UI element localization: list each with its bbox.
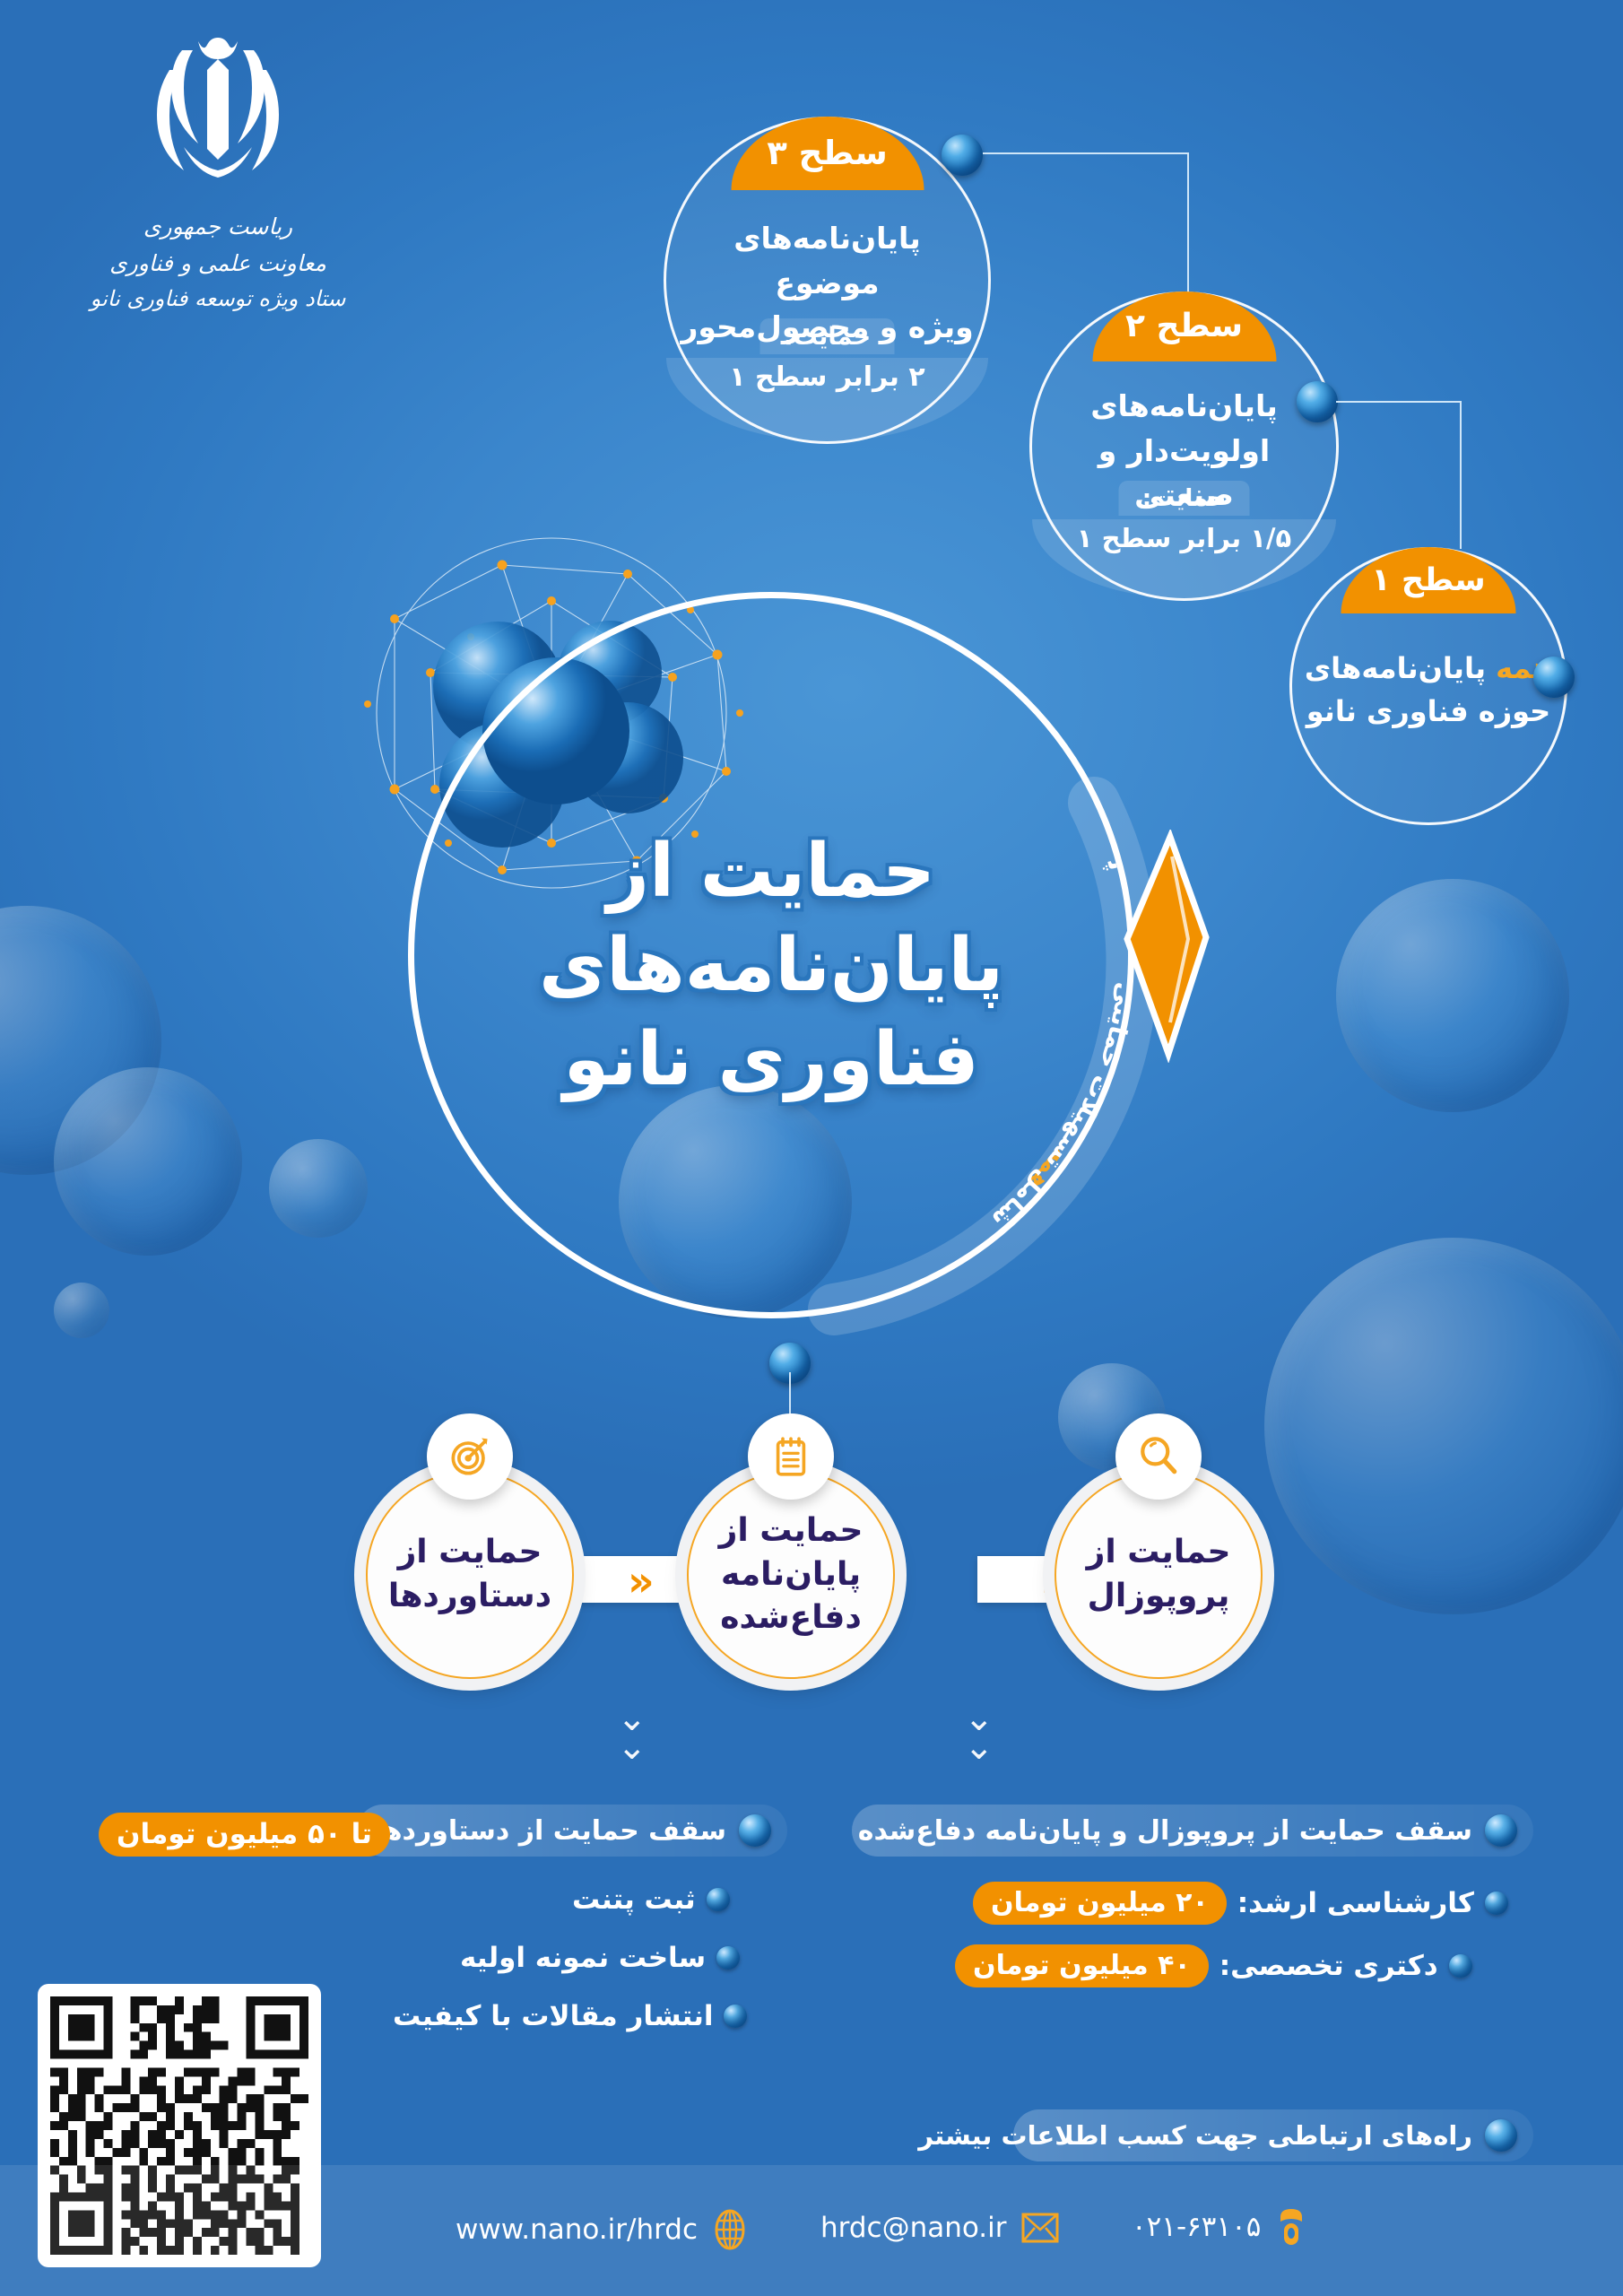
level-2-title-line-1: پایان‌نامه‌های [1045, 384, 1324, 429]
bullet-icon [1485, 2119, 1517, 2152]
support-right-item-1: کارشناسی ارشد: ۲۰ میلیون تومان [973, 1882, 1508, 1925]
level-2-circle: سطح ۲ پایان‌نامه‌های اولویت‌دار و صنعتی … [1029, 291, 1339, 601]
level-1-badge-label: سطح ۱ [1371, 562, 1485, 598]
support-right-item-2-label: دکتری تخصصی: [1219, 1950, 1438, 1982]
target-icon-glyph [445, 1431, 495, 1482]
support-left-heading-text: سقف حمایت از دستاوردها [373, 1815, 726, 1847]
level-2-support: حمایت: ۱/۵ برابر سطح ۱ [1032, 481, 1336, 553]
contact-website-text: www.nano.ir/hrdc [456, 2213, 698, 2246]
level-1-badge: سطح ۱ [1341, 547, 1516, 613]
bubble-decoration [269, 1139, 368, 1238]
process-card-defended-thesis-label: حمایت از پایان‌نامه دفاع‌شده [719, 1509, 864, 1640]
level-2-support-label: حمایت: [1119, 481, 1250, 516]
org-line-vice-presidency: معاونت علمی و فناوری [70, 246, 366, 283]
process-achv-line-1: حمایت از [388, 1531, 551, 1575]
support-left-heading: سقف حمایت از دستاوردها [357, 1805, 787, 1857]
level-3-badge: سطح ۳ [731, 117, 924, 190]
contact-heading-text: راه‌های ارتباطی جهت کسب اطلاعات بیشتر [918, 2120, 1472, 2151]
level-2-connector-top [1336, 401, 1462, 403]
level-2-to-level-1-connector [1336, 401, 1462, 549]
process-proposal-line-1: حمایت از [1087, 1531, 1231, 1575]
process-thesis-line-3: دفاع‌شده [719, 1596, 864, 1640]
bullet-icon [707, 1888, 730, 1911]
level-3-to-level-2-connector [983, 152, 1189, 300]
main-title-line-3: فناوری نانو [466, 1013, 1076, 1108]
support-right-item-1-value: ۲۰ میلیون تومان [973, 1882, 1227, 1925]
bullet-icon [716, 1946, 740, 1970]
contact-heading: راه‌های ارتباطی جهت کسب اطلاعات بیشتر [1013, 2109, 1533, 2161]
footer-bar: www.nano.ir/hrdc hrdc@nano.ir ۰۲۱-۶۳۱۰۵ [0, 2165, 1623, 2296]
magnifier-icon-glyph [1133, 1431, 1184, 1482]
support-right-item-2: دکتری تخصصی: ۴۰ میلیون تومان [955, 1944, 1472, 1987]
support-left-item-2-label: ساخت نمونه اولیه [460, 1942, 706, 1974]
level-3-support: حمایت: ۲ برابر سطح ۱ [666, 318, 988, 393]
process-card-defended-thesis[interactable]: حمایت از پایان‌نامه دفاع‌شده [687, 1471, 895, 1679]
level-1-title-line-2: حوزه فناوری نانو [1303, 690, 1554, 733]
bubble-decoration [1336, 879, 1569, 1112]
poster-canvas: ریاست جمهوری معاونت علمی و فناوری ستاد و… [0, 0, 1623, 2296]
process-achv-line-2: دستاوردها [388, 1575, 551, 1619]
contact-website[interactable]: www.nano.ir/hrdc [456, 2208, 748, 2251]
support-right-item-2-value: ۴۰ میلیون تومان [955, 1944, 1209, 1987]
envelope-icon [1021, 2213, 1059, 2243]
support-left-item-2: ساخت نمونه اولیه [460, 1942, 740, 1974]
notepad-icon [748, 1413, 834, 1500]
poster-main-title: حمایت از پایان‌نامه‌های فناوری نانو [466, 825, 1076, 1108]
bubble-decoration [54, 1067, 242, 1256]
bullet-icon [739, 1814, 771, 1847]
level-3-support-value: ۲ برابر سطح ۱ [666, 361, 988, 393]
level-3-title-line-1: پایان‌نامه‌های موضوع [679, 216, 975, 305]
level-3-connector-node [942, 135, 983, 176]
level-1-circle: سطح ۱ همه پایان‌نامه‌های حوزه فناوری نان… [1289, 547, 1567, 825]
support-left-item-1: ثبت پتنت [572, 1883, 730, 1916]
org-line-presidency: ریاست جمهوری [70, 209, 366, 246]
notepad-icon-glyph [767, 1432, 815, 1481]
iran-emblem-icon [128, 34, 308, 200]
support-left-item-1-label: ثبت پتنت [572, 1883, 696, 1916]
bubble-decoration [1264, 1238, 1623, 1614]
organization-logo: ریاست جمهوری معاونت علمی و فناوری ستاد و… [70, 34, 366, 317]
level-1-title: همه پایان‌نامه‌های حوزه فناوری نانو [1303, 647, 1554, 733]
level-2-badge: سطح ۲ [1092, 291, 1276, 361]
support-left-item-3-label: انتشار مقالات با کیفیت [393, 2000, 713, 2032]
process-card-achievements-label: حمایت از دستاوردها [388, 1531, 551, 1618]
support-left-item-3: انتشار مقالات با کیفیت [393, 2000, 747, 2032]
contact-email-text: hrdc@nano.ir [820, 2212, 1007, 2244]
bullet-icon [1485, 1892, 1508, 1915]
level-3-support-label: حمایت: [760, 318, 894, 354]
bullet-icon [724, 2005, 747, 2028]
organization-names: ریاست جمهوری معاونت علمی و فناوری ستاد و… [70, 209, 366, 317]
process-chevron-left: « [628, 1561, 655, 1602]
main-title-line-1: حمایت از [466, 825, 1076, 919]
process-card-achievements[interactable]: حمایت از دستاوردها [366, 1471, 574, 1679]
level-1-connector-node [1533, 657, 1575, 698]
bubble-decoration [54, 1283, 109, 1338]
level-3-badge-label: سطح ۳ [767, 134, 888, 172]
contact-email[interactable]: hrdc@nano.ir [820, 2212, 1059, 2244]
ring-diamond-marker [1116, 830, 1215, 1063]
arc-text-main: پایان‌نامه‌های حوزه فناوری نانو می‌شود. [372, 541, 1133, 874]
level-2-badge-label: سطح ۲ [1125, 308, 1243, 344]
telephone-icon [1275, 2206, 1307, 2248]
down-arrow-right: ⌄⌄ [964, 1704, 994, 1761]
process-card-proposal-label: حمایت از پروپوزال [1087, 1531, 1231, 1618]
support-right-heading-text: سقف حمایت از پروپوزال و پایان‌نامه دفاع‌… [858, 1815, 1472, 1847]
bullet-icon [1449, 1954, 1472, 1978]
process-thesis-line-2: پایان‌نامه [719, 1553, 864, 1597]
support-left-cap-value: تا ۵۰ میلیون تومان [99, 1813, 390, 1857]
contact-phone-text: ۰۲۱-۶۳۱۰۵ [1132, 2211, 1261, 2243]
level-3-circle: سطح ۳ پایان‌نامه‌های موضوع ویژه و محصول‌… [664, 117, 991, 444]
magnifier-icon [1115, 1413, 1202, 1500]
down-arrow-left: ⌄⌄ [617, 1704, 647, 1761]
support-right-item-1-label: کارشناسی ارشد: [1237, 1887, 1474, 1919]
process-card-proposal[interactable]: حمایت از پروپوزال [1055, 1471, 1263, 1679]
support-right-heading: سقف حمایت از پروپوزال و پایان‌نامه دفاع‌… [852, 1805, 1533, 1857]
level-2-support-value: ۱/۵ برابر سطح ۱ [1032, 523, 1336, 553]
bubble-decoration [0, 906, 161, 1175]
level-3-connector-top [983, 152, 1189, 154]
process-proposal-line-2: پروپوزال [1087, 1575, 1231, 1619]
main-title-line-2: پایان‌نامه‌های [466, 919, 1076, 1013]
org-line-nano-headquarters: ستاد ویژه توسعه فناوری نانو [70, 282, 366, 317]
bullet-icon [1485, 1814, 1517, 1847]
globe-icon [712, 2208, 748, 2251]
process-thesis-line-1: حمایت از [719, 1509, 864, 1553]
level-2-connector-node [1297, 381, 1338, 422]
target-icon [427, 1413, 513, 1500]
level-1-title-line-1: پایان‌نامه‌های [1305, 651, 1486, 685]
contact-phone[interactable]: ۰۲۱-۶۳۱۰۵ [1132, 2206, 1307, 2248]
